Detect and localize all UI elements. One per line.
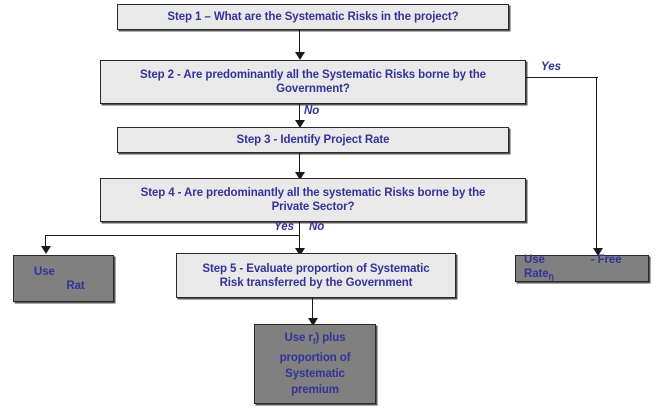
node-step-4[interactable]: Step 4 - Are predominantly all the syste… [100, 178, 526, 222]
node-step-4-line2: Private Sector? [272, 201, 355, 213]
node-use-rf-plus-line1: Use rf) plus [285, 332, 346, 344]
arrowhead-step4-yes [41, 246, 51, 254]
node-use-rf-plus[interactable]: Use rf) plus proportion of Systematic pr… [254, 324, 376, 404]
connector-step4-stem [299, 222, 300, 236]
node-step-5[interactable]: Step 5 - Evaluate proportion of Systemat… [176, 253, 456, 298]
node-use-rf-plus-line4: premium [291, 384, 339, 396]
node-use-rf-plus-label: Use rf) plus proportion of Systematic pr… [255, 330, 375, 398]
node-step-2[interactable]: Step 2 - Are predominantly all the Syste… [100, 60, 526, 104]
edge-label-step2-no: No [304, 105, 319, 117]
connector-step2-yes-vertical [596, 77, 597, 252]
connector-step4-yes-horizontal [45, 235, 300, 236]
node-use-rf-plus-line2: proportion of [280, 352, 351, 364]
node-step-1-label: Step 1 – What are the Systematic Risks i… [118, 10, 508, 24]
node-use-rate-line2: Rat [20, 279, 107, 293]
node-use-rate-line1: Use [20, 265, 107, 279]
node-step-3-label: Step 3 - Identify Project Rate [118, 133, 508, 147]
node-use-rate-label: Use Rat [14, 265, 113, 293]
edge-label-step4-yes: Yes [274, 221, 294, 233]
node-use-rf-plus-line1-suffix: ) plus [315, 332, 345, 344]
edge-label-step2-yes: Yes [541, 61, 561, 73]
arrowhead-step1-step2 [295, 52, 305, 60]
node-use-free-rate-prefix: Use [524, 254, 545, 266]
node-step-5-label: Step 5 - Evaluate proportion of Systemat… [177, 262, 455, 290]
node-step-5-line2: Risk transferred by the Government [220, 277, 413, 289]
node-step-1[interactable]: Step 1 – What are the Systematic Risks i… [117, 4, 509, 30]
node-use-rate[interactable]: Use Rat [13, 255, 114, 302]
node-use-free-rate[interactable]: Use- Free Ratef) [515, 255, 649, 282]
node-use-free-rate-subscript: f) [549, 273, 554, 282]
node-step-3[interactable]: Step 3 - Identify Project Rate [117, 127, 509, 153]
node-step-5-line1: Step 5 - Evaluate proportion of Systemat… [202, 263, 429, 275]
node-step-2-label: Step 2 - Are predominantly all the Syste… [101, 68, 525, 96]
connector-step2-yes-horizontal [526, 77, 598, 78]
node-use-rf-plus-line1-prefix: Use r [285, 332, 313, 344]
node-step-2-line2: Government? [276, 83, 350, 95]
node-use-free-rate-label: Use- Free Ratef) [516, 253, 648, 285]
node-use-rf-plus-line3: Systematic [285, 368, 345, 380]
flowchart-canvas: Step 1 – What are the Systematic Risks i… [0, 0, 659, 409]
node-step-2-line1: Step 2 - Are predominantly all the Syste… [140, 69, 486, 81]
node-step-4-line1: Step 4 - Are predominantly all the syste… [141, 187, 486, 199]
node-step-4-label: Step 4 - Are predominantly all the syste… [101, 186, 525, 214]
edge-label-step4-no: No [309, 221, 324, 233]
